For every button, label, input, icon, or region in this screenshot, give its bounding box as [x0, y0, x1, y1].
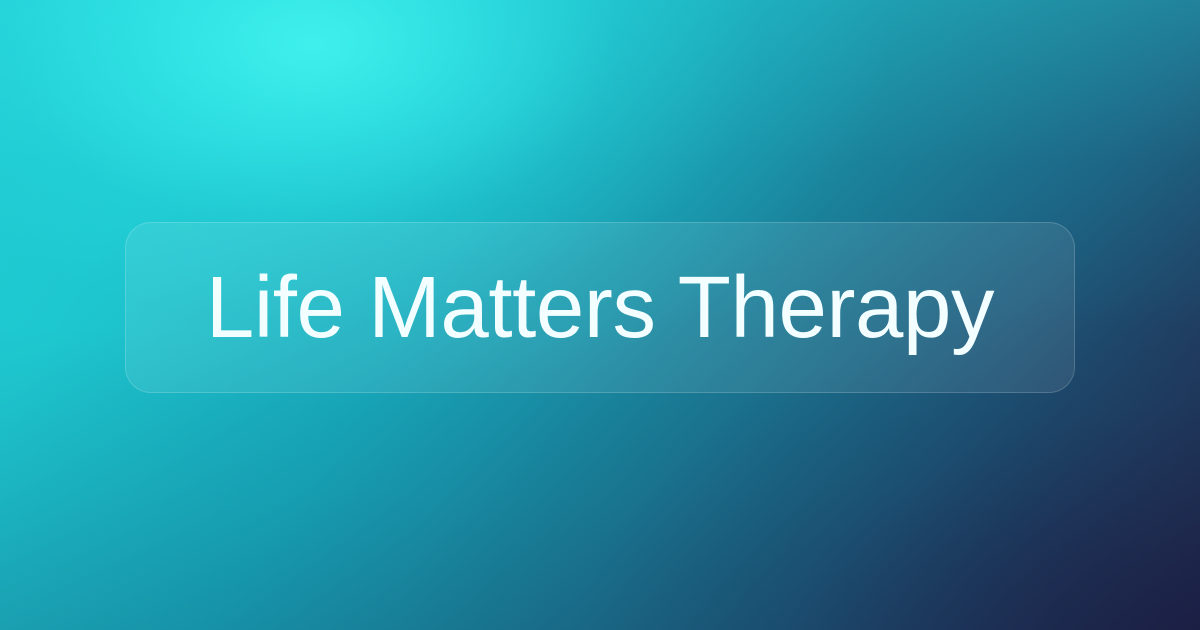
card-layer: Life Matters Therapy: [0, 0, 1200, 630]
title-card: Life Matters Therapy: [125, 222, 1075, 393]
og-share-card: Life Matters Therapy: [0, 0, 1200, 630]
page-title: Life Matters Therapy: [206, 264, 994, 351]
